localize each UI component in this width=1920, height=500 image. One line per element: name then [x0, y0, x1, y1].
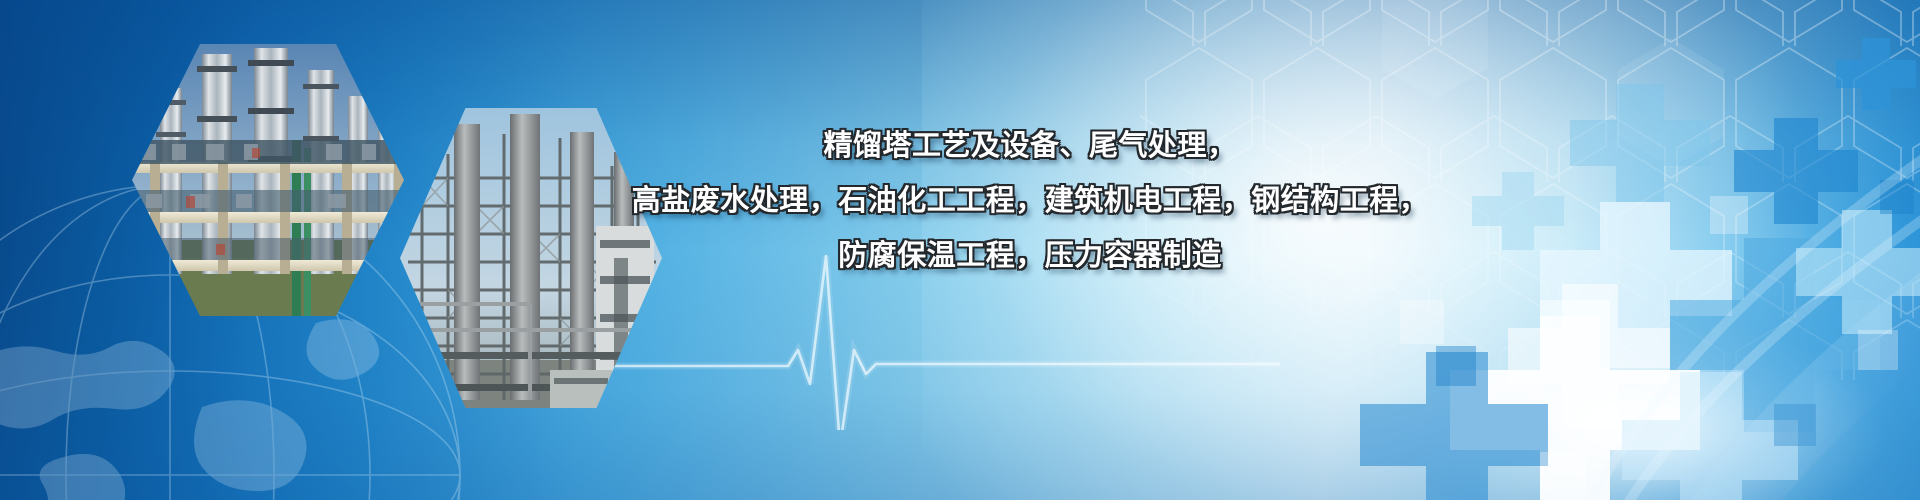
headline-block: 精馏塔工艺及设备、尾气处理， 高盐废水处理，石油化工工程，建筑机电工程，钢结构工…	[620, 126, 1440, 278]
headline-line-1: 精馏塔工艺及设备、尾气处理，	[620, 126, 1440, 167]
swoosh-arcs	[1390, 130, 1920, 500]
promo-banner: 精馏塔工艺及设备、尾气处理， 高盐废水处理，石油化工工程，建筑机电工程，钢结构工…	[0, 0, 1920, 500]
headline-line-3: 防腐保温工程，压力容器制造	[620, 236, 1440, 277]
headline-line-2: 高盐废水处理，石油化工工程，建筑机电工程，钢结构工程，	[620, 181, 1440, 222]
